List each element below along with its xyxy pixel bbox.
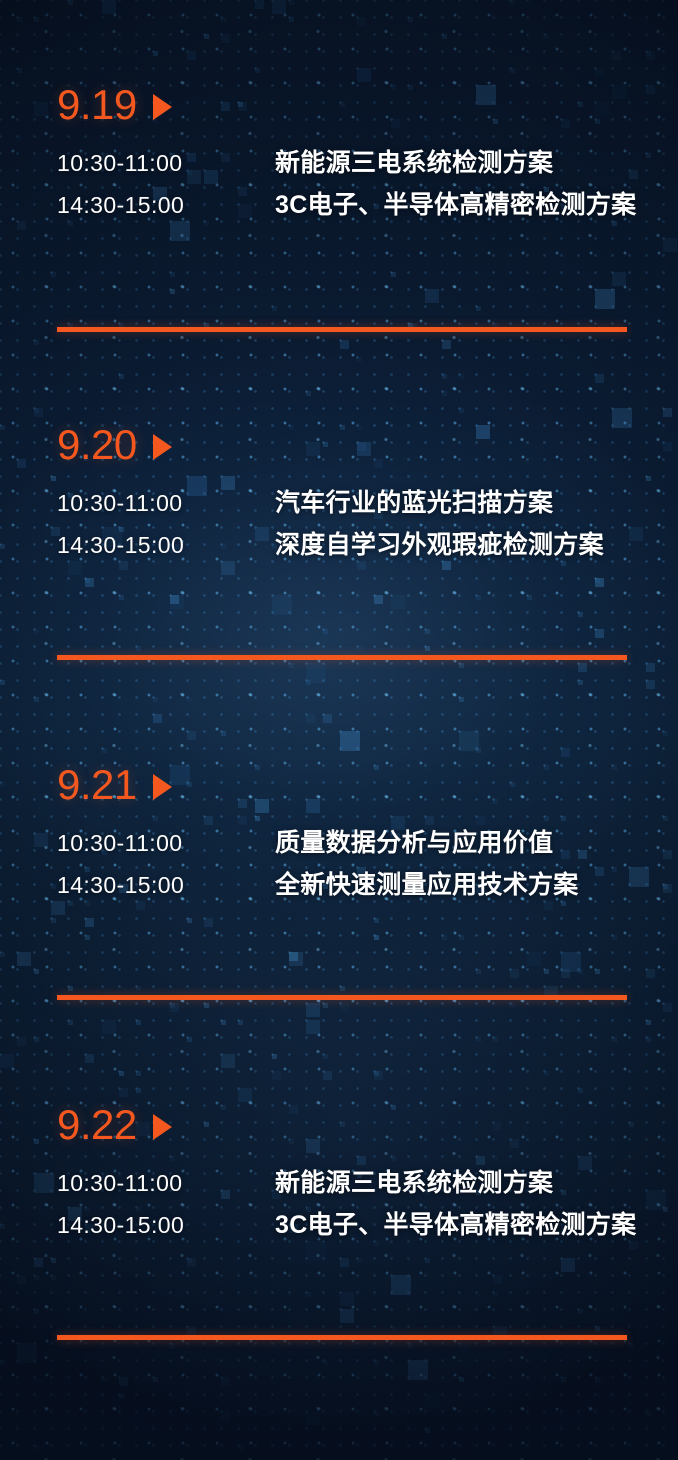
background-square (646, 969, 655, 978)
background-square (221, 1377, 230, 1386)
background-square (374, 595, 383, 604)
background-square (17, 1343, 37, 1363)
background-square (578, 1309, 583, 1314)
background-square (153, 51, 158, 56)
background-square (646, 680, 655, 689)
background-square (34, 340, 39, 345)
section-divider (57, 655, 627, 660)
background-square (68, 0, 73, 5)
background-square (340, 1309, 354, 1323)
background-square (289, 17, 294, 22)
background-square (459, 374, 464, 379)
background-square (85, 918, 94, 927)
background-square (119, 1071, 124, 1076)
background-square (119, 374, 124, 379)
background-square (476, 306, 481, 311)
day-header: 9.22 (57, 1102, 678, 1148)
background-square (374, 918, 379, 923)
background-square (663, 408, 672, 417)
background-square (187, 1258, 196, 1267)
background-square (0, 1360, 5, 1365)
background-square (646, 51, 651, 56)
background-square (578, 969, 583, 974)
session-title: 全新快速测量应用技术方案 (275, 868, 647, 902)
background-square (646, 1037, 651, 1042)
background-square (34, 1258, 43, 1267)
background-square (476, 969, 481, 974)
background-square (442, 374, 447, 379)
session-row: 14:30-15:00 深度自学习外观瑕疵检测方案 (57, 528, 678, 562)
background-square (442, 935, 447, 940)
background-square (425, 1428, 430, 1433)
background-square (68, 1020, 73, 1025)
background-square (663, 731, 668, 736)
background-square (425, 1394, 439, 1408)
background-square (136, 1071, 141, 1076)
background-square (459, 697, 464, 702)
background-square (17, 952, 31, 966)
session-title: 汽车行业的蓝光扫描方案 (275, 486, 647, 520)
background-square (119, 595, 124, 600)
background-square (323, 1071, 332, 1080)
background-square (442, 34, 447, 39)
background-square (187, 1326, 196, 1335)
background-square (221, 1411, 230, 1420)
background-square (595, 578, 604, 587)
triangle-right-icon (153, 434, 172, 460)
background-square (595, 1377, 604, 1386)
background-square (306, 1003, 320, 1017)
day-block: 9.22 10:30-11:00 新能源三电系统检测方案 14:30-15:00… (0, 1102, 678, 1250)
background-square (391, 595, 405, 609)
background-square (204, 1003, 209, 1008)
background-square (17, 17, 22, 22)
background-square (459, 1343, 468, 1352)
background-square (323, 629, 328, 634)
background-square (119, 1377, 128, 1386)
session-list: 10:30-11:00 新能源三电系统检测方案 14:30-15:00 3C电子… (0, 146, 678, 222)
background-square (0, 680, 5, 685)
day-block: 9.21 10:30-11:00 质量数据分析与应用价值 14:30-15:00… (0, 762, 678, 910)
background-square (153, 51, 158, 56)
day-date: 9.22 (57, 1104, 137, 1146)
background-square (595, 1326, 600, 1331)
background-square (306, 714, 315, 723)
session-title: 质量数据分析与应用价值 (275, 826, 647, 860)
background-square (34, 1309, 39, 1314)
section-divider (57, 1335, 627, 1340)
background-square (561, 748, 570, 757)
background-square (510, 68, 515, 73)
background-square (578, 612, 583, 617)
background-square (459, 731, 479, 751)
background-square (425, 289, 439, 303)
background-square (340, 340, 349, 349)
background-square (646, 1411, 651, 1416)
background-square (527, 952, 541, 966)
session-title: 3C电子、半导体高精密检测方案 (275, 188, 647, 222)
background-square (459, 935, 464, 940)
background-square (170, 1343, 175, 1348)
background-square (272, 306, 277, 311)
background-square (170, 289, 175, 294)
day-date: 9.20 (57, 424, 137, 466)
background-square (595, 578, 600, 583)
background-square (289, 0, 294, 5)
background-square (238, 1020, 243, 1025)
background-square (51, 272, 56, 277)
day-header: 9.19 (57, 82, 678, 128)
session-time: 10:30-11:00 (57, 486, 275, 520)
background-square (0, 952, 5, 957)
background-square (391, 272, 396, 277)
background-square (221, 1020, 226, 1025)
background-square (102, 1020, 116, 1034)
background-square (221, 34, 230, 43)
background-square (493, 1275, 502, 1284)
background-square (561, 952, 581, 972)
background-square (272, 1071, 281, 1080)
background-square (255, 0, 264, 9)
day-block: 9.19 10:30-11:00 新能源三电系统检测方案 14:30-15:00… (0, 82, 678, 230)
background-square (170, 272, 175, 277)
background-square (663, 238, 677, 252)
background-square (204, 34, 209, 39)
background-square (510, 0, 515, 5)
session-list: 10:30-11:00 质量数据分析与应用价值 14:30-15:00 全新快速… (0, 826, 678, 902)
background-square (323, 1003, 328, 1008)
background-square (221, 17, 226, 22)
background-square (221, 731, 226, 736)
background-square (544, 1071, 549, 1076)
background-square (408, 17, 413, 22)
background-square (408, 1360, 428, 1380)
background-square (595, 374, 604, 383)
background-square (68, 986, 73, 991)
background-square (459, 1377, 464, 1382)
background-square (476, 748, 481, 753)
background-square (578, 1088, 583, 1093)
background-square (527, 595, 532, 600)
day-block: 9.20 10:30-11:00 汽车行业的蓝光扫描方案 14:30-15:00… (0, 422, 678, 570)
session-row: 14:30-15:00 全新快速测量应用技术方案 (57, 868, 678, 902)
background-square (34, 969, 39, 974)
schedule-poster: 9.19 10:30-11:00 新能源三电系统检测方案 14:30-15:00… (0, 0, 678, 1460)
background-square (612, 1037, 617, 1042)
background-square (153, 714, 162, 723)
background-square (306, 1020, 320, 1034)
session-list: 10:30-11:00 新能源三电系统检测方案 14:30-15:00 3C电子… (0, 1166, 678, 1242)
background-square (476, 595, 481, 600)
triangle-right-icon (153, 94, 172, 120)
day-date: 9.21 (57, 764, 137, 806)
background-square (442, 391, 447, 396)
background-square (255, 68, 260, 73)
background-square (340, 986, 345, 991)
background-square (459, 663, 464, 668)
background-square (85, 935, 90, 940)
background-square (272, 595, 292, 615)
session-time: 14:30-15:00 (57, 1208, 275, 1242)
background-square (442, 340, 451, 349)
session-time: 14:30-15:00 (57, 868, 275, 902)
background-square (391, 1326, 396, 1331)
background-square (459, 408, 464, 413)
background-square (136, 986, 141, 991)
background-square (646, 1020, 651, 1025)
background-square (272, 1054, 277, 1059)
background-square (612, 935, 617, 940)
background-square (306, 1292, 311, 1297)
session-row: 10:30-11:00 汽车行业的蓝光扫描方案 (57, 486, 678, 520)
background-square (306, 680, 311, 685)
background-square (136, 1088, 141, 1093)
background-square (34, 1275, 39, 1280)
session-list: 10:30-11:00 汽车行业的蓝光扫描方案 14:30-15:00 深度自学… (0, 486, 678, 562)
background-square (629, 1343, 634, 1348)
background-square (204, 1003, 209, 1008)
background-square (425, 629, 430, 634)
background-square (544, 969, 549, 974)
background-square (374, 935, 379, 940)
session-time: 14:30-15:00 (57, 528, 275, 562)
background-square (85, 1054, 94, 1063)
background-square (595, 969, 600, 974)
session-title: 新能源三电系统检测方案 (275, 146, 647, 180)
background-square (187, 1037, 192, 1042)
background-square (340, 1258, 349, 1267)
background-square (306, 1411, 320, 1425)
background-square (425, 1258, 430, 1263)
background-square (612, 272, 626, 286)
background-square (51, 1258, 56, 1263)
background-square (102, 748, 107, 753)
background-square (170, 1003, 175, 1008)
background-square (323, 1360, 328, 1365)
section-divider (57, 327, 627, 332)
background-square (238, 1445, 243, 1450)
background-square (119, 1394, 124, 1399)
background-square (170, 595, 179, 604)
background-square (510, 1003, 515, 1008)
background-square (187, 697, 192, 702)
background-square (187, 731, 196, 740)
background-square (34, 1377, 39, 1382)
background-square (357, 68, 371, 82)
background-square (493, 1037, 498, 1042)
background-square (595, 1377, 600, 1382)
background-square (663, 1003, 672, 1012)
background-square (408, 1343, 413, 1348)
background-square (34, 1445, 39, 1450)
background-square (170, 1003, 179, 1012)
session-row: 14:30-15:00 3C电子、半导体高精密检测方案 (57, 1208, 678, 1242)
background-square (306, 391, 311, 396)
background-square (306, 663, 326, 683)
background-square (493, 1292, 498, 1297)
background-square (85, 578, 94, 587)
background-square (153, 1377, 158, 1382)
background-square (170, 595, 184, 609)
background-square (374, 1071, 379, 1076)
background-square (17, 1037, 26, 1046)
session-row: 10:30-11:00 新能源三电系统检测方案 (57, 146, 678, 180)
background-square (51, 918, 56, 923)
background-square (170, 612, 175, 617)
background-square (34, 697, 39, 702)
session-title: 新能源三电系统检测方案 (275, 1166, 647, 1200)
background-square (357, 1258, 362, 1263)
session-title: 3C电子、半导体高精密检测方案 (275, 1208, 647, 1242)
background-square (323, 1054, 328, 1059)
background-square (357, 646, 362, 651)
background-square (238, 1088, 252, 1102)
background-square (17, 1275, 26, 1284)
background-square (476, 1292, 481, 1297)
background-square (17, 68, 22, 73)
triangle-right-icon (153, 774, 172, 800)
background-square (578, 663, 587, 672)
background-square (289, 952, 303, 966)
background-square (34, 408, 43, 417)
background-square (187, 1258, 192, 1263)
background-square (136, 646, 141, 651)
background-square (34, 17, 39, 22)
background-square (425, 1428, 430, 1433)
day-header: 9.21 (57, 762, 678, 808)
background-square (289, 663, 294, 668)
background-square (646, 663, 655, 672)
background-square (187, 918, 192, 923)
background-square (119, 1088, 128, 1097)
background-square (578, 680, 583, 685)
day-header: 9.20 (57, 422, 678, 468)
background-square (357, 17, 366, 26)
background-square (340, 731, 360, 751)
background-square (510, 969, 519, 978)
background-square (85, 578, 90, 583)
background-square (34, 408, 39, 413)
background-square (34, 629, 39, 634)
background-square (595, 1326, 600, 1331)
background-square (102, 0, 116, 14)
background-square (102, 1377, 107, 1382)
background-square (374, 1071, 383, 1080)
session-time: 10:30-11:00 (57, 1166, 275, 1200)
background-square (544, 34, 549, 39)
background-square (595, 68, 604, 77)
background-square (204, 918, 213, 927)
background-square (340, 1003, 349, 1012)
background-square (595, 629, 604, 638)
background-square (561, 1258, 575, 1272)
background-square (561, 1377, 566, 1382)
background-square (612, 51, 621, 60)
day-date: 9.19 (57, 84, 137, 126)
background-square (0, 1054, 14, 1068)
background-square (374, 1411, 379, 1416)
background-square (357, 357, 362, 362)
background-square (391, 1275, 411, 1295)
background-square (476, 1037, 481, 1042)
session-time: 10:30-11:00 (57, 826, 275, 860)
background-square (289, 952, 298, 961)
session-time: 10:30-11:00 (57, 146, 275, 180)
background-square (425, 646, 430, 651)
section-divider (57, 995, 627, 1000)
background-square (323, 714, 332, 723)
session-title: 深度自学习外观瑕疵检测方案 (275, 528, 647, 562)
background-square (595, 289, 615, 309)
session-row: 10:30-11:00 新能源三电系统检测方案 (57, 1166, 678, 1200)
background-square (221, 1054, 235, 1068)
background-square (374, 1360, 379, 1365)
background-square (153, 697, 158, 702)
background-square (272, 0, 286, 14)
background-square (51, 1275, 56, 1280)
background-square (136, 1020, 141, 1025)
session-time: 14:30-15:00 (57, 188, 275, 222)
background-square (34, 1037, 39, 1042)
session-row: 14:30-15:00 3C电子、半导体高精密检测方案 (57, 188, 678, 222)
background-square (561, 969, 570, 978)
session-row: 10:30-11:00 质量数据分析与应用价值 (57, 826, 678, 860)
triangle-right-icon (153, 1114, 172, 1140)
background-square (187, 51, 196, 60)
background-square (646, 51, 655, 60)
background-square (340, 1292, 354, 1306)
